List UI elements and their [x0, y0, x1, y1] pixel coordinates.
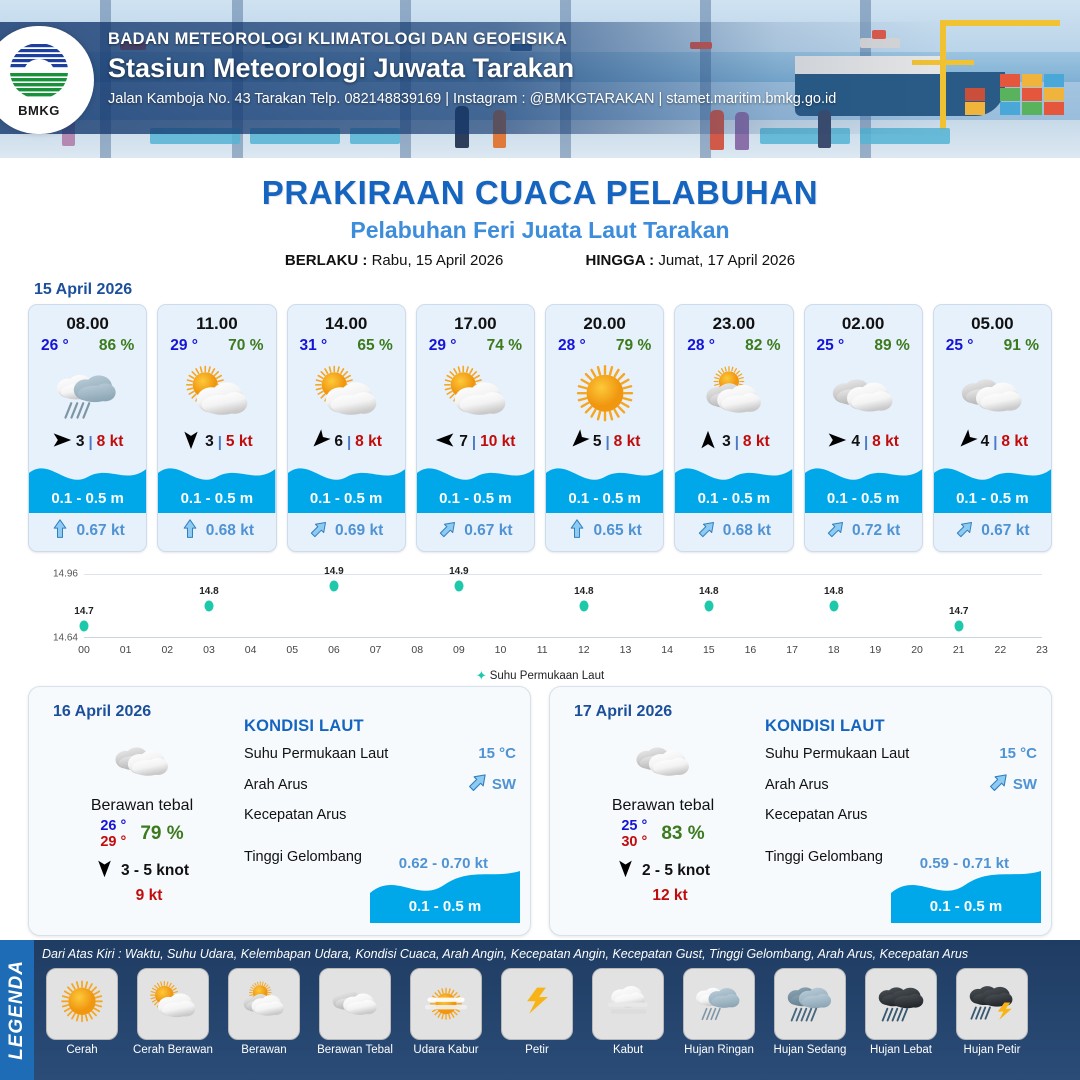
weather-condition-icon — [417, 357, 534, 429]
wave-height: 0.1 - 0.5 m — [288, 490, 405, 507]
wind-direction-arrow-icon — [616, 859, 635, 883]
wave-height: 0.1 - 0.5 m — [675, 490, 792, 507]
wind-direction-arrow-icon — [698, 430, 718, 455]
bmkg-logo-mark — [8, 42, 70, 102]
legend-item: Hujan Lebat — [859, 968, 943, 1056]
wind-separator: | — [864, 434, 868, 451]
daily-humidity: 83 % — [661, 823, 704, 845]
wind-scale: 5 — [593, 433, 602, 451]
wind-scale: 4 — [981, 433, 990, 451]
legend-item: Cerah — [40, 968, 124, 1056]
forecast-temp-hum-row: 28 ° 79 % — [546, 334, 663, 355]
daily-wind-range: 3 - 5 knot — [121, 862, 189, 880]
wave-graphic: 0.1 - 0.5 m — [370, 865, 520, 923]
legend-icon-card — [683, 968, 755, 1040]
current-speed: 0.68 kt — [206, 522, 254, 540]
udara-kabur-icon — [415, 979, 477, 1029]
wave-graphic: 0.1 - 0.5 m — [805, 455, 922, 513]
legend-item-label: Hujan Petir — [950, 1044, 1034, 1056]
valid-from-label: BERLAKU : — [285, 252, 368, 269]
sst-label: Suhu Permukaan Laut — [244, 746, 388, 762]
hujan-ringan-icon — [688, 979, 750, 1029]
wind-speed: 8 kt — [355, 433, 382, 451]
wave-graphic: 0.1 - 0.5 m — [546, 455, 663, 513]
wind-scale: 3 — [76, 433, 85, 451]
daily-temp-hum-row: 25 ° 30 ° 83 % — [568, 818, 758, 850]
forecast-temp-hum-row: 28 ° 82 % — [675, 334, 792, 355]
x-axis-tick: 07 — [370, 644, 382, 656]
wave-height: 0.1 - 0.5 m — [29, 490, 146, 507]
forecast-card: 08.00 26 ° 86 % 3 | 8 kt 0.1 - 0.5 m 0.6… — [28, 304, 147, 552]
legend-item-label: Cerah Berawan — [131, 1044, 215, 1056]
daily-condition: Berawan tebal — [568, 797, 758, 815]
current-speed: 0.67 kt — [981, 522, 1029, 540]
x-axis-tick: 09 — [453, 644, 465, 656]
forecast-temperature: 25 ° — [946, 337, 974, 355]
data-point-label: 14.8 — [574, 586, 593, 597]
legend-item-label: Udara Kabur — [404, 1044, 488, 1056]
legend-icon-card — [865, 968, 937, 1040]
legend-item: Berawan — [222, 968, 306, 1056]
x-axis-tick: 23 — [1036, 644, 1048, 656]
wind-speed: 5 kt — [226, 433, 253, 451]
forecast-wind-row: 7 | 10 kt — [417, 429, 534, 455]
x-axis-tick: 11 — [537, 644, 548, 656]
page-subtitle: Pelabuhan Feri Juata Laut Tarakan — [0, 217, 1080, 244]
legend-icon-card — [319, 968, 391, 1040]
daily-condition: Berawan tebal — [47, 797, 237, 815]
y-axis-tick: 14.96 — [53, 569, 78, 580]
forecast-current-row: 0.69 kt — [288, 515, 405, 547]
forecast-card: 14.00 31 ° 65 % 6 | 8 kt 0.1 - 0.5 m 0.6… — [287, 304, 406, 552]
current-speed: 0.69 kt — [335, 522, 383, 540]
current-speed: 0.65 kt — [593, 522, 641, 540]
daily-temp-max: 30 ° — [621, 834, 647, 850]
current-direction-value-group: SW — [467, 771, 516, 798]
current-speed: 0.72 kt — [852, 522, 900, 540]
weather-condition-icon — [568, 731, 758, 789]
current-direction-arrow-icon — [988, 771, 1010, 798]
legend-icon-card — [228, 968, 300, 1040]
wind-separator: | — [347, 434, 351, 451]
current-direction-arrow-icon — [180, 519, 200, 544]
legend-item-row: Cerah Cerah Berawan Berawan Berawan Teba… — [40, 968, 1076, 1056]
legend-icon-card — [774, 968, 846, 1040]
forecast-time: 05.00 — [934, 314, 1051, 334]
legend-icon-card — [46, 968, 118, 1040]
wind-direction-arrow-icon — [310, 430, 330, 455]
x-axis-tick: 12 — [578, 644, 590, 656]
forecast-temp-hum-row: 29 ° 74 % — [417, 334, 534, 355]
sea-conditions: KONDISI LAUT Suhu Permukaan Laut 15 °C A… — [765, 717, 1037, 865]
legend-note: Dari Atas Kiri : Waktu, Suhu Udara, Kele… — [42, 947, 1074, 961]
wind-separator: | — [605, 434, 609, 451]
wind-direction-arrow-icon — [95, 859, 114, 883]
data-point — [579, 601, 588, 612]
x-axis-tick: 00 — [78, 644, 90, 656]
daily-temp-range: 26 ° 29 ° — [100, 818, 126, 850]
cerah-icon — [51, 979, 113, 1029]
forecast-date-label: 15 April 2026 — [34, 281, 1080, 299]
wave-graphic: 0.1 - 0.5 m — [417, 455, 534, 513]
wave-graphic: 0.1 - 0.5 m — [675, 455, 792, 513]
forecast-humidity: 86 % — [99, 337, 134, 355]
weather-condition-icon — [805, 357, 922, 429]
forecast-time: 20.00 — [546, 314, 663, 334]
wind-speed: 10 kt — [480, 433, 515, 451]
data-point — [704, 601, 713, 612]
valid-from-value: Rabu, 15 April 2026 — [372, 252, 504, 269]
forecast-temperature: 28 ° — [687, 337, 715, 355]
sst-chart-legend: ✦Suhu Permukaan Laut — [22, 668, 1058, 684]
wave-height-label: Tinggi Gelombang — [244, 849, 362, 865]
sst-row: Suhu Permukaan Laut 15 °C — [765, 745, 1037, 762]
legend-icon-card — [956, 968, 1028, 1040]
daily-humidity: 79 % — [140, 823, 183, 845]
x-axis-tick: 02 — [161, 644, 173, 656]
forecast-card: 17.00 29 ° 74 % 7 | 10 kt 0.1 - 0.5 m 0.… — [416, 304, 535, 552]
current-direction-arrow-icon — [467, 771, 489, 798]
wave-graphic: 0.1 - 0.5 m — [288, 455, 405, 513]
wind-direction-arrow-icon — [181, 430, 201, 455]
wind-scale: 3 — [205, 433, 214, 451]
legend-item: Berawan Tebal — [313, 968, 397, 1056]
legend-item-label: Berawan — [222, 1044, 306, 1056]
current-direction-row: Arah Arus SW — [244, 771, 516, 798]
berawan-tebal-icon — [324, 979, 386, 1029]
legend-item-label: Hujan Sedang — [768, 1044, 852, 1056]
data-point — [204, 601, 213, 612]
current-speed-row: Kecepatan Arus — [765, 807, 1037, 823]
forecast-current-row: 0.67 kt — [29, 515, 146, 547]
data-point-label: 14.9 — [449, 566, 468, 577]
forecast-card: 20.00 28 ° 79 % 5 | 8 kt 0.1 - 0.5 m 0.6… — [545, 304, 664, 552]
wind-direction-arrow-icon — [435, 430, 455, 455]
x-axis-tick: 03 — [203, 644, 215, 656]
valid-until: HINGGA : Jumat, 17 April 2026 — [586, 252, 796, 269]
legend-item-label: Hujan Lebat — [859, 1044, 943, 1056]
forecast-current-row: 0.65 kt — [546, 515, 663, 547]
hujan-lebat-icon — [870, 979, 932, 1029]
forecast-wind-row: 3 | 5 kt — [158, 429, 275, 455]
wind-separator: | — [88, 434, 92, 451]
daily-temp-min: 25 ° — [621, 818, 647, 834]
wave-graphic: 0.1 - 0.5 m — [158, 455, 275, 513]
daily-temp-max: 29 ° — [100, 834, 126, 850]
forecast-temp-hum-row: 26 ° 86 % — [29, 334, 146, 355]
current-direction-row: Arah Arus SW — [765, 771, 1037, 798]
sst-row: Suhu Permukaan Laut 15 °C — [244, 745, 516, 762]
sst-label: Suhu Permukaan Laut — [765, 746, 909, 762]
forecast-humidity: 65 % — [357, 337, 392, 355]
bmkg-logo-text: BMKG — [18, 103, 60, 118]
data-point — [80, 621, 89, 632]
legend-marker-icon: ✦ — [476, 668, 487, 684]
wave-height: 0.1 - 0.5 m — [805, 490, 922, 507]
daily-date: 16 April 2026 — [53, 703, 151, 721]
forecast-time: 17.00 — [417, 314, 534, 334]
wind-direction-arrow-icon — [52, 430, 72, 455]
weather-condition-icon — [158, 357, 275, 429]
forecast-wind-row: 3 | 8 kt — [29, 429, 146, 455]
forecast-time: 02.00 — [805, 314, 922, 334]
daily-wind-range: 2 - 5 knot — [642, 862, 710, 880]
wind-scale: 7 — [459, 433, 468, 451]
forecast-humidity: 79 % — [616, 337, 651, 355]
forecast-temperature: 31 ° — [300, 337, 328, 355]
data-point — [829, 601, 838, 612]
forecast-temp-hum-row: 29 ° 70 % — [158, 334, 275, 355]
wind-speed: 8 kt — [614, 433, 641, 451]
legend-footer: LEGENDA Dari Atas Kiri : Waktu, Suhu Uda… — [0, 940, 1080, 1080]
x-axis-tick: 22 — [995, 644, 1007, 656]
forecast-time: 08.00 — [29, 314, 146, 334]
weather-condition-icon — [288, 357, 405, 429]
forecast-card: 11.00 29 ° 70 % 3 | 5 kt 0.1 - 0.5 m 0.6… — [157, 304, 276, 552]
x-axis-tick: 13 — [620, 644, 632, 656]
wave-graphic: 0.1 - 0.5 m — [891, 865, 1041, 923]
wind-scale: 3 — [722, 433, 731, 451]
weather-condition-icon — [546, 357, 663, 429]
page-header: BMKG BADAN METEOROLOGI KLIMATOLOGI DAN G… — [0, 0, 1080, 158]
current-direction-arrow-icon — [697, 519, 717, 544]
x-axis-tick: 21 — [953, 644, 965, 656]
petir-icon — [506, 979, 568, 1029]
x-axis-tick: 18 — [828, 644, 840, 656]
forecast-wind-row: 6 | 8 kt — [288, 429, 405, 455]
daily-temp-range: 25 ° 30 ° — [621, 818, 647, 850]
legend-item: Hujan Sedang — [768, 968, 852, 1056]
x-axis-tick: 04 — [245, 644, 257, 656]
data-point-label: 14.7 — [949, 606, 968, 617]
agency-name: BADAN METEOROLOGI KLIMATOLOGI DAN GEOFIS… — [108, 30, 1068, 49]
wind-speed: 8 kt — [97, 433, 124, 451]
legend-item-label: Hujan Ringan — [677, 1044, 761, 1056]
x-axis-tick: 15 — [703, 644, 715, 656]
wind-separator: | — [472, 434, 476, 451]
kabut-icon — [597, 979, 659, 1029]
daily-summary: Berawan tebal 26 ° 29 ° 79 % 3 - 5 knot … — [47, 731, 237, 905]
forecast-humidity: 82 % — [745, 337, 780, 355]
wave-height: 0.1 - 0.5 m — [546, 490, 663, 507]
legend-series-label: Suhu Permukaan Laut — [490, 670, 604, 682]
sea-conditions-title: KONDISI LAUT — [244, 717, 516, 736]
legend-item-label: Kabut — [586, 1044, 670, 1056]
sst-chart: 14.9614.64000102030405060708091011121314… — [22, 564, 1058, 682]
forecast-time: 11.00 — [158, 314, 275, 334]
page-title: PRAKIRAAN CUACA PELABUHAN — [0, 174, 1080, 212]
wind-direction-arrow-icon — [569, 430, 589, 455]
current-speed-label: Kecepatan Arus — [765, 807, 867, 823]
valid-from: BERLAKU : Rabu, 15 April 2026 — [285, 252, 503, 269]
daily-panel-row: 16 April 2026 Berawan tebal 26 ° 29 ° 79… — [0, 686, 1080, 936]
validity-row: BERLAKU : Rabu, 15 April 2026 HINGGA : J… — [0, 252, 1080, 269]
forecast-temp-hum-row: 25 ° 91 % — [934, 334, 1051, 355]
x-axis-tick: 19 — [870, 644, 882, 656]
wave-height: 0.1 - 0.5 m — [934, 490, 1051, 507]
daily-date: 17 April 2026 — [574, 703, 672, 721]
sst-chart-plot: 14.9614.64000102030405060708091011121314… — [84, 574, 1042, 638]
forecast-temperature: 25 ° — [817, 337, 845, 355]
forecast-temperature: 29 ° — [429, 337, 457, 355]
data-point — [454, 581, 463, 592]
daily-temp-min: 26 ° — [100, 818, 126, 834]
x-axis-tick: 01 — [120, 644, 132, 656]
forecast-wind-row: 3 | 8 kt — [675, 429, 792, 455]
current-direction-arrow-icon — [50, 519, 70, 544]
forecast-wind-row: 4 | 8 kt — [805, 429, 922, 455]
current-direction-value-group: SW — [988, 771, 1037, 798]
current-direction-value: SW — [492, 776, 516, 793]
wind-speed: 8 kt — [1001, 433, 1028, 451]
x-axis-tick: 20 — [911, 644, 923, 656]
wave-height-value: 0.1 - 0.5 m — [370, 898, 520, 915]
forecast-temp-hum-row: 25 ° 89 % — [805, 334, 922, 355]
x-axis-tick: 08 — [411, 644, 423, 656]
legend-item: Udara Kabur — [404, 968, 488, 1056]
legend-icon-card — [410, 968, 482, 1040]
forecast-card: 02.00 25 ° 89 % 4 | 8 kt 0.1 - 0.5 m 0.7… — [804, 304, 923, 552]
legend-item: Petir — [495, 968, 579, 1056]
wind-separator: | — [735, 434, 739, 451]
y-axis-tick: 14.64 — [53, 633, 78, 644]
daily-wind-row: 3 - 5 knot — [47, 859, 237, 883]
station-name: Stasiun Meteorologi Juwata Tarakan — [108, 53, 1068, 84]
data-point-label: 14.8 — [699, 586, 718, 597]
x-axis-tick: 10 — [495, 644, 507, 656]
legend-icon-card — [592, 968, 664, 1040]
current-speed-label: Kecepatan Arus — [244, 807, 346, 823]
valid-until-label: HINGGA : — [586, 252, 655, 269]
forecast-temperature: 26 ° — [41, 337, 69, 355]
forecast-humidity: 91 % — [1004, 337, 1039, 355]
current-direction-value: SW — [1013, 776, 1037, 793]
current-direction-label: Arah Arus — [765, 777, 829, 793]
weather-condition-icon — [29, 357, 146, 429]
wind-scale: 6 — [334, 433, 343, 451]
legend-side-label: LEGENDA — [6, 960, 28, 1060]
current-direction-arrow-icon — [309, 519, 329, 544]
current-direction-arrow-icon — [826, 519, 846, 544]
forecast-card: 23.00 28 ° 82 % 3 | 8 kt 0.1 - 0.5 m 0.6… — [674, 304, 793, 552]
x-axis-tick: 05 — [286, 644, 298, 656]
daily-gust: 9 kt — [61, 887, 237, 905]
legend-item: Cerah Berawan — [131, 968, 215, 1056]
forecast-temperature: 29 ° — [170, 337, 198, 355]
daily-summary: Berawan tebal 25 ° 30 ° 83 % 2 - 5 knot … — [568, 731, 758, 905]
current-speed: 0.67 kt — [76, 522, 124, 540]
data-point-label: 14.8 — [824, 586, 843, 597]
header-text-block: BADAN METEOROLOGI KLIMATOLOGI DAN GEOFIS… — [108, 30, 1068, 107]
data-point — [329, 581, 338, 592]
forecast-humidity: 74 % — [487, 337, 522, 355]
legend-item: Hujan Petir — [950, 968, 1034, 1056]
legend-icon-card — [137, 968, 209, 1040]
wave-height: 0.1 - 0.5 m — [158, 490, 275, 507]
data-point — [954, 621, 963, 632]
current-speed: 0.68 kt — [723, 522, 771, 540]
forecast-temperature: 28 ° — [558, 337, 586, 355]
x-axis-tick: 16 — [745, 644, 757, 656]
legend-side-tab: LEGENDA — [0, 940, 34, 1080]
wind-speed: 8 kt — [872, 433, 899, 451]
daily-forecast-panel: 16 April 2026 Berawan tebal 26 ° 29 ° 79… — [28, 686, 531, 936]
current-direction-label: Arah Arus — [244, 777, 308, 793]
wind-separator: | — [218, 434, 222, 451]
wind-separator: | — [993, 434, 997, 451]
hujan-petir-icon — [961, 979, 1023, 1029]
data-point-label: 14.9 — [324, 566, 343, 577]
valid-until-value: Jumat, 17 April 2026 — [658, 252, 795, 269]
hujan-sedang-icon — [779, 979, 841, 1029]
daily-gust: 12 kt — [582, 887, 758, 905]
forecast-humidity: 89 % — [874, 337, 909, 355]
contact-line: Jalan Kamboja No. 43 Tarakan Telp. 08214… — [108, 91, 1068, 107]
wind-direction-arrow-icon — [827, 430, 847, 455]
daily-temp-hum-row: 26 ° 29 ° 79 % — [47, 818, 237, 850]
x-axis-tick: 17 — [786, 644, 798, 656]
forecast-current-row: 0.67 kt — [417, 515, 534, 547]
forecast-current-row: 0.68 kt — [675, 515, 792, 547]
wave-height-value: 0.1 - 0.5 m — [891, 898, 1041, 915]
x-axis-tick: 14 — [661, 644, 673, 656]
sst-value: 15 °C — [999, 745, 1037, 762]
weather-condition-icon — [934, 357, 1051, 429]
wave-graphic: 0.1 - 0.5 m — [934, 455, 1051, 513]
legend-item-label: Berawan Tebal — [313, 1044, 397, 1056]
sea-conditions: KONDISI LAUT Suhu Permukaan Laut 15 °C A… — [244, 717, 516, 865]
berawan-icon — [233, 979, 295, 1029]
data-point-label: 14.8 — [199, 586, 218, 597]
forecast-current-row: 0.68 kt — [158, 515, 275, 547]
forecast-current-row: 0.72 kt — [805, 515, 922, 547]
current-speed: 0.67 kt — [464, 522, 512, 540]
wave-graphic: 0.1 - 0.5 m — [29, 455, 146, 513]
wind-scale: 4 — [851, 433, 860, 451]
cerah-berawan-icon — [142, 979, 204, 1029]
current-direction-arrow-icon — [438, 519, 458, 544]
forecast-current-row: 0.67 kt — [934, 515, 1051, 547]
daily-wind-row: 2 - 5 knot — [568, 859, 758, 883]
current-speed-row: Kecepatan Arus — [244, 807, 516, 823]
forecast-wind-row: 4 | 8 kt — [934, 429, 1051, 455]
forecast-temp-hum-row: 31 ° 65 % — [288, 334, 405, 355]
wave-height-label: Tinggi Gelombang — [765, 849, 883, 865]
current-direction-arrow-icon — [955, 519, 975, 544]
wind-speed: 8 kt — [743, 433, 770, 451]
forecast-time: 23.00 — [675, 314, 792, 334]
current-direction-arrow-icon — [567, 519, 587, 544]
sea-conditions-title: KONDISI LAUT — [765, 717, 1037, 736]
wave-height: 0.1 - 0.5 m — [417, 490, 534, 507]
forecast-time: 14.00 — [288, 314, 405, 334]
forecast-wind-row: 5 | 8 kt — [546, 429, 663, 455]
weather-condition-icon — [47, 731, 237, 789]
forecast-card-row: 08.00 26 ° 86 % 3 | 8 kt 0.1 - 0.5 m 0.6… — [0, 304, 1080, 552]
legend-item-label: Cerah — [40, 1044, 124, 1056]
title-block: PRAKIRAAN CUACA PELABUHAN Pelabuhan Feri… — [0, 158, 1080, 269]
weather-condition-icon — [675, 357, 792, 429]
legend-item: Kabut — [586, 968, 670, 1056]
data-point-label: 14.7 — [74, 606, 93, 617]
wind-direction-arrow-icon — [957, 430, 977, 455]
legend-item-label: Petir — [495, 1044, 579, 1056]
daily-forecast-panel: 17 April 2026 Berawan tebal 25 ° 30 ° 83… — [549, 686, 1052, 936]
sst-value: 15 °C — [478, 745, 516, 762]
legend-item: Hujan Ringan — [677, 968, 761, 1056]
legend-icon-card — [501, 968, 573, 1040]
forecast-humidity: 70 % — [228, 337, 263, 355]
